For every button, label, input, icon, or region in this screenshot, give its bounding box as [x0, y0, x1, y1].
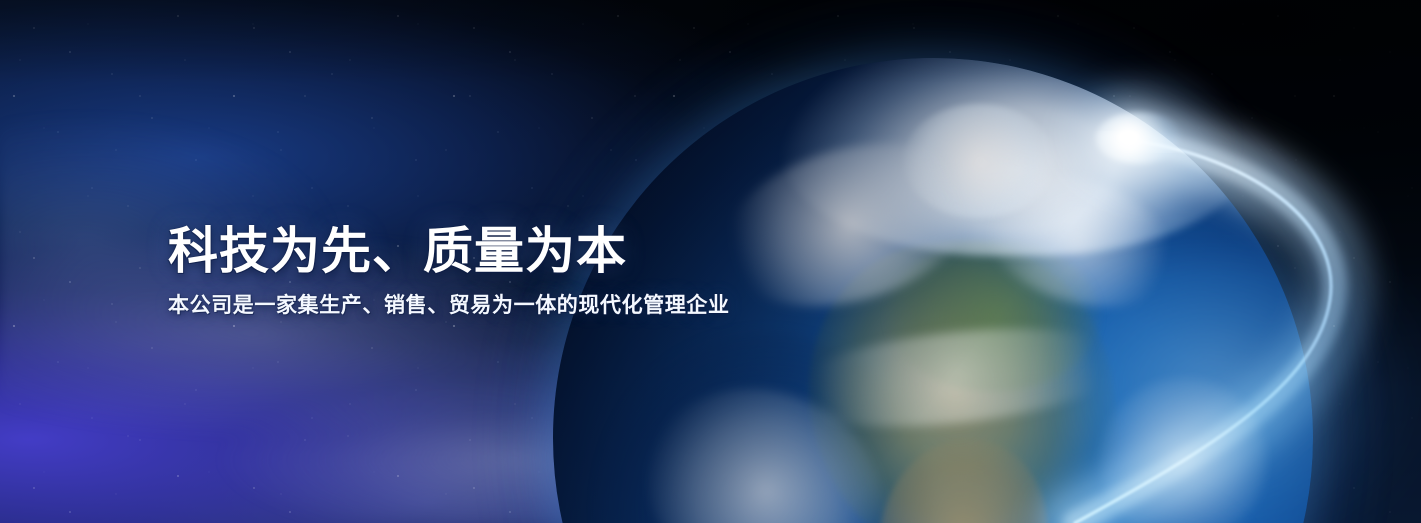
- hero-headline: 科技为先、质量为本: [168, 222, 730, 280]
- hero-banner: 科技为先、质量为本 本公司是一家集生产、销售、贸易为一体的现代化管理企业: [0, 0, 1421, 523]
- hero-copy-block: 科技为先、质量为本 本公司是一家集生产、销售、贸易为一体的现代化管理企业: [168, 222, 730, 320]
- hero-subheadline: 本公司是一家集生产、销售、贸易为一体的现代化管理企业: [168, 292, 730, 320]
